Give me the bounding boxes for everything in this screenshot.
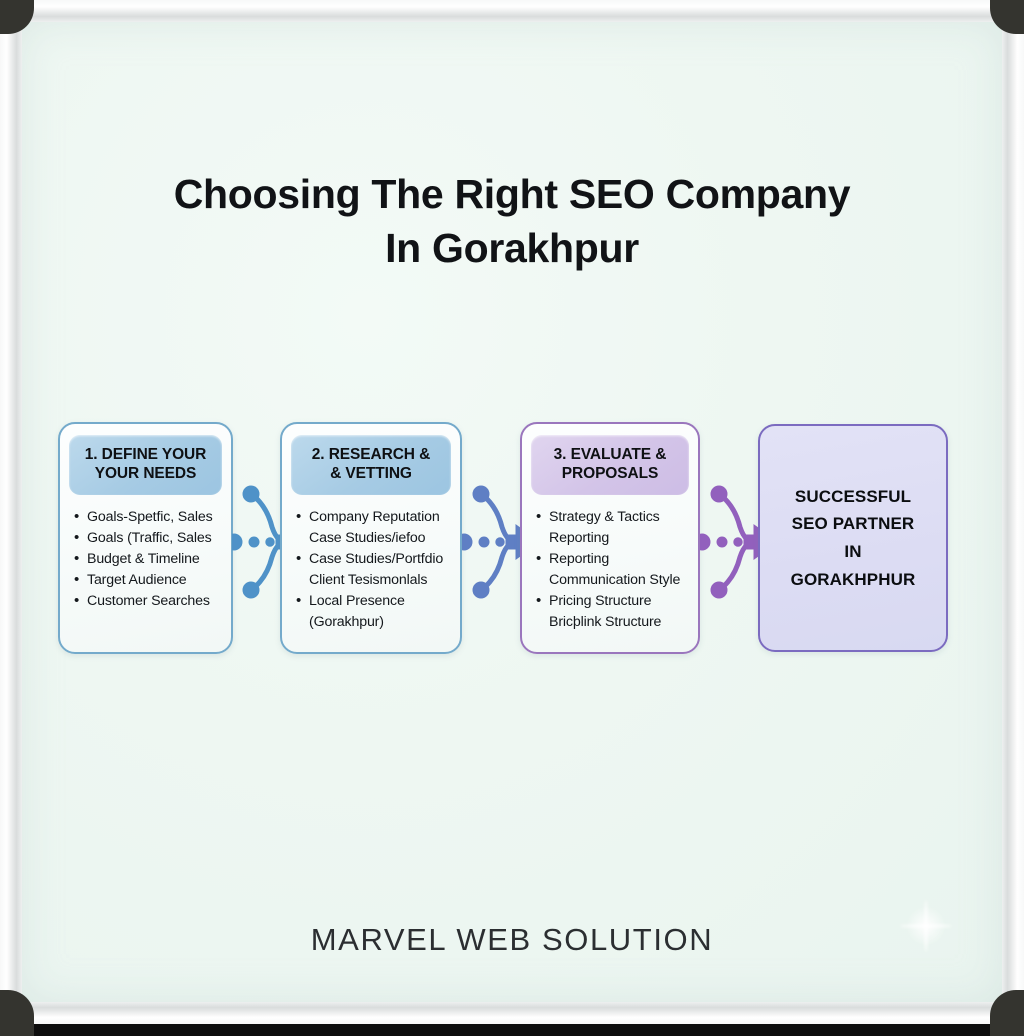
frame-edge-left <box>0 0 22 1024</box>
step-header-line-1: 2. RESEARCH & <box>312 446 430 463</box>
bullet-text: Pricing Structure <box>549 593 651 609</box>
list-item: Target Audience <box>74 570 223 591</box>
outcome-line-3: IN <box>844 538 861 566</box>
step-card-header-1: 1. DEFINE YOUR YOUR NEEDS <box>69 435 222 495</box>
list-item: Case Studies/Portfdio Client Tesismonlal… <box>296 549 452 591</box>
outcome-line-2: SEO PARTNER <box>792 510 915 538</box>
list-item: Customer Searches <box>74 591 223 612</box>
outcome-card-text: SUCCESSFUL SEO PARTNER IN GORAKHPHUR <box>760 426 946 650</box>
list-item: Local Presence (Gorakhpur) <box>296 591 452 633</box>
step-card-header-3: 3. EVALUATE & PROPOSALS <box>531 435 689 495</box>
bullet-text: Goals-Spetfic, Sales <box>87 509 213 525</box>
bullet-subtext: Communication Style <box>549 570 690 591</box>
bullet-subtext: Bricþlink Structure <box>549 612 690 633</box>
page-title-line-2: In Gorakhpur <box>22 221 1002 275</box>
bullet-text: Case Studies/Portfdio <box>309 551 443 567</box>
bullet-subtext: Reporting <box>549 528 690 549</box>
step-header-line-2: YOUR NEEDS <box>95 465 197 482</box>
outcome-line-4: GORAKHPHUR <box>791 566 916 594</box>
bullet-text: Reporting <box>549 551 609 567</box>
step-bullet-list-1: Goals-Spetfic, Sales Goals (Traffic, Sal… <box>60 507 231 612</box>
list-item: Goals-Spetfic, Sales <box>74 507 223 528</box>
list-item: Strategy & Tactics Reporting <box>536 507 690 549</box>
frame-edge-top <box>0 0 1024 22</box>
whiteboard-surface: Choosing The Right SEO Company In Gorakh… <box>22 22 1002 1002</box>
outcome-line-1: SUCCESSFUL <box>795 483 911 511</box>
page-title: Choosing The Right SEO Company In Gorakh… <box>22 167 1002 275</box>
step-header-line-1: 3. EVALUATE & <box>554 446 667 463</box>
list-item: Pricing Structure Bricþlink Structure <box>536 591 690 633</box>
step-header-line-2: PROPOSALS <box>562 465 658 482</box>
bullet-subtext: Case Studies/iefoo <box>309 528 452 549</box>
bullet-text: Budget & Timeline <box>87 551 200 567</box>
frame-edge-bottom <box>0 1002 1024 1024</box>
step-card-evaluate-proposals[interactable]: 3. EVALUATE & PROPOSALS Strategy & Tacti… <box>520 422 700 654</box>
list-item: Reporting Communication Style <box>536 549 690 591</box>
step-header-line-1: 1. DEFINE YOUR <box>85 446 206 463</box>
bullet-text: Customer Searches <box>87 593 210 609</box>
list-item: Goals (Traffic, Sales <box>74 528 223 549</box>
step-bullet-list-2: Company Reputation Case Studies/iefoo Ca… <box>282 507 460 633</box>
whiteboard-frame: Choosing The Right SEO Company In Gorakh… <box>0 0 1024 1024</box>
bullet-text: Company Reputation <box>309 509 440 525</box>
sparkle-icon <box>898 898 954 954</box>
step-card-header-2: 2. RESEARCH & & VETTING <box>291 435 451 495</box>
step-header-line-2: & VETTING <box>330 465 412 482</box>
bullet-text: Target Audience <box>87 572 187 588</box>
page-title-line-1: Choosing The Right SEO Company <box>22 167 1002 221</box>
step-card-define-needs[interactable]: 1. DEFINE YOUR YOUR NEEDS Goals-Spetfic,… <box>58 422 233 654</box>
bullet-text: Strategy & Tactics <box>549 509 660 525</box>
step-bullet-list-3: Strategy & Tactics Reporting Reporting C… <box>522 507 698 633</box>
bullet-subtext: Client Tesismonlals <box>309 570 452 591</box>
bullet-text: Local Presence <box>309 593 405 609</box>
brand-footer: MARVEL WEB SOLUTION <box>22 922 1002 958</box>
step-card-research-vetting[interactable]: 2. RESEARCH & & VETTING Company Reputati… <box>280 422 462 654</box>
bullet-text: Goals (Traffic, Sales <box>87 530 212 546</box>
list-item: Company Reputation Case Studies/iefoo <box>296 507 452 549</box>
process-flow: 1. DEFINE YOUR YOUR NEEDS Goals-Spetfic,… <box>22 422 1002 672</box>
frame-edge-right <box>1002 0 1024 1024</box>
list-item: Budget & Timeline <box>74 549 223 570</box>
outcome-card-successful-partner[interactable]: SUCCESSFUL SEO PARTNER IN GORAKHPHUR <box>758 424 948 652</box>
bullet-subtext: (Gorakhpur) <box>309 612 452 633</box>
